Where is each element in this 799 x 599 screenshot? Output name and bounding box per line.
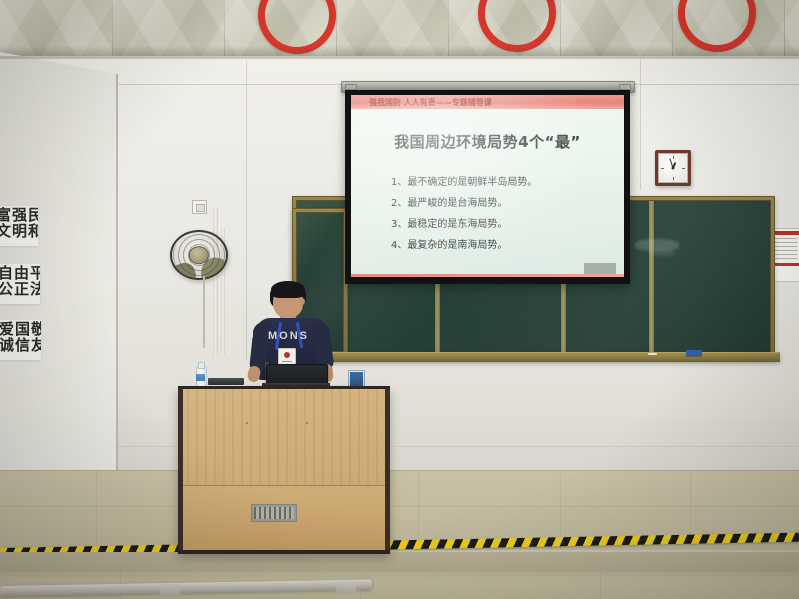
lectern-edge-right (385, 388, 390, 554)
podium-folder[interactable] (208, 378, 244, 385)
poster-1-line-1: 富强民主 (0, 206, 38, 224)
wooden-lectern (178, 388, 390, 554)
poster-core-values-3: 爱国敬业 诚信友善 (0, 320, 41, 360)
wall-ceiling-trim (0, 56, 799, 59)
classroom-photo: 富强民主 文明和谐 自由平等 公正法治 爱国敬业 诚信友善 (0, 0, 799, 599)
poster-1-line-2: 文明和谐 (0, 224, 38, 240)
poster-core-values-1: 富强民主 文明和谐 (0, 206, 38, 246)
projected-slide: 强我国防 人人有责——专题辅导课 我国周边环境局势4个“最” 1、最不确定的是朝… (351, 95, 624, 277)
wall-mounted-fan (170, 230, 224, 276)
slide-bullet-4: 4、最复杂的是南海局势。 (391, 236, 537, 255)
slide-banner: 强我国防 人人有责——专题辅导课 (351, 95, 624, 109)
slide-bullet-list: 1、最不确定的是朝鲜半岛局势。 2、最严峻的是台海局势。 3、最稳定的是东海局势… (391, 173, 537, 257)
lectern-edge-bottom (178, 550, 390, 554)
poster-3-line-1: 爱国敬业 (0, 320, 41, 338)
slide-bullet-2: 2、最严峻的是台海局势。 (391, 194, 537, 213)
wall-switch-plate[interactable] (192, 200, 207, 214)
presenter-forearm-left (247, 365, 262, 383)
poster-2-line-1: 自由平等 (0, 264, 40, 282)
presenter-hair (271, 281, 305, 298)
pipe-coupling-1 (160, 584, 180, 596)
fan-cage (170, 230, 228, 280)
slide-bottom-accent (351, 274, 624, 277)
poster-core-values-2: 自由平等 公正法治 (0, 264, 40, 304)
chalk-tray (288, 352, 780, 362)
poster-2-line-2: 公正法治 (0, 282, 40, 298)
water-bottle-cap (198, 362, 205, 369)
slide-title: 我国周边环境局势4个“最” (351, 131, 624, 152)
slide-bullet-1: 1、最不确定的是朝鲜半岛局势。 (391, 173, 537, 192)
slide-banner-text: 强我国防 人人有责——专题辅导课 (351, 97, 492, 108)
blue-packet-inner (350, 372, 363, 387)
screen-bottom-shadow (584, 263, 616, 274)
fan-pull-cord (203, 276, 205, 348)
presenter-shirt-text: MONS (268, 330, 309, 342)
fan-hub (189, 246, 209, 264)
lectern-vent-grille (251, 504, 297, 522)
chalk-stick[interactable] (648, 353, 657, 355)
lectern-edge-left (178, 388, 183, 554)
water-bottle-label (196, 374, 205, 381)
presenter-ear (300, 298, 305, 305)
lectern-top-lip (178, 386, 390, 389)
pipe-coupling-2 (336, 581, 356, 593)
pull-down-projection-screen: 强我国防 人人有责——专题辅导课 我国周边环境局势4个“最” 1、最不确定的是朝… (345, 90, 630, 284)
vent-slats (254, 507, 294, 519)
wall-corner-edge (116, 74, 118, 474)
clock-face (658, 153, 688, 183)
blackboard-eraser[interactable] (686, 350, 702, 356)
wall-clock (655, 150, 691, 186)
slide-bullet-3: 3、最稳定的是东海局势。 (391, 215, 537, 234)
wall-seam-v2 (640, 60, 641, 190)
ceiling (0, 0, 799, 62)
wall-switch-button[interactable] (196, 204, 205, 212)
badge-logo-icon (284, 352, 290, 358)
poster-3-line-2: 诚信友善 (0, 338, 41, 354)
clock-center-pin (672, 167, 675, 170)
